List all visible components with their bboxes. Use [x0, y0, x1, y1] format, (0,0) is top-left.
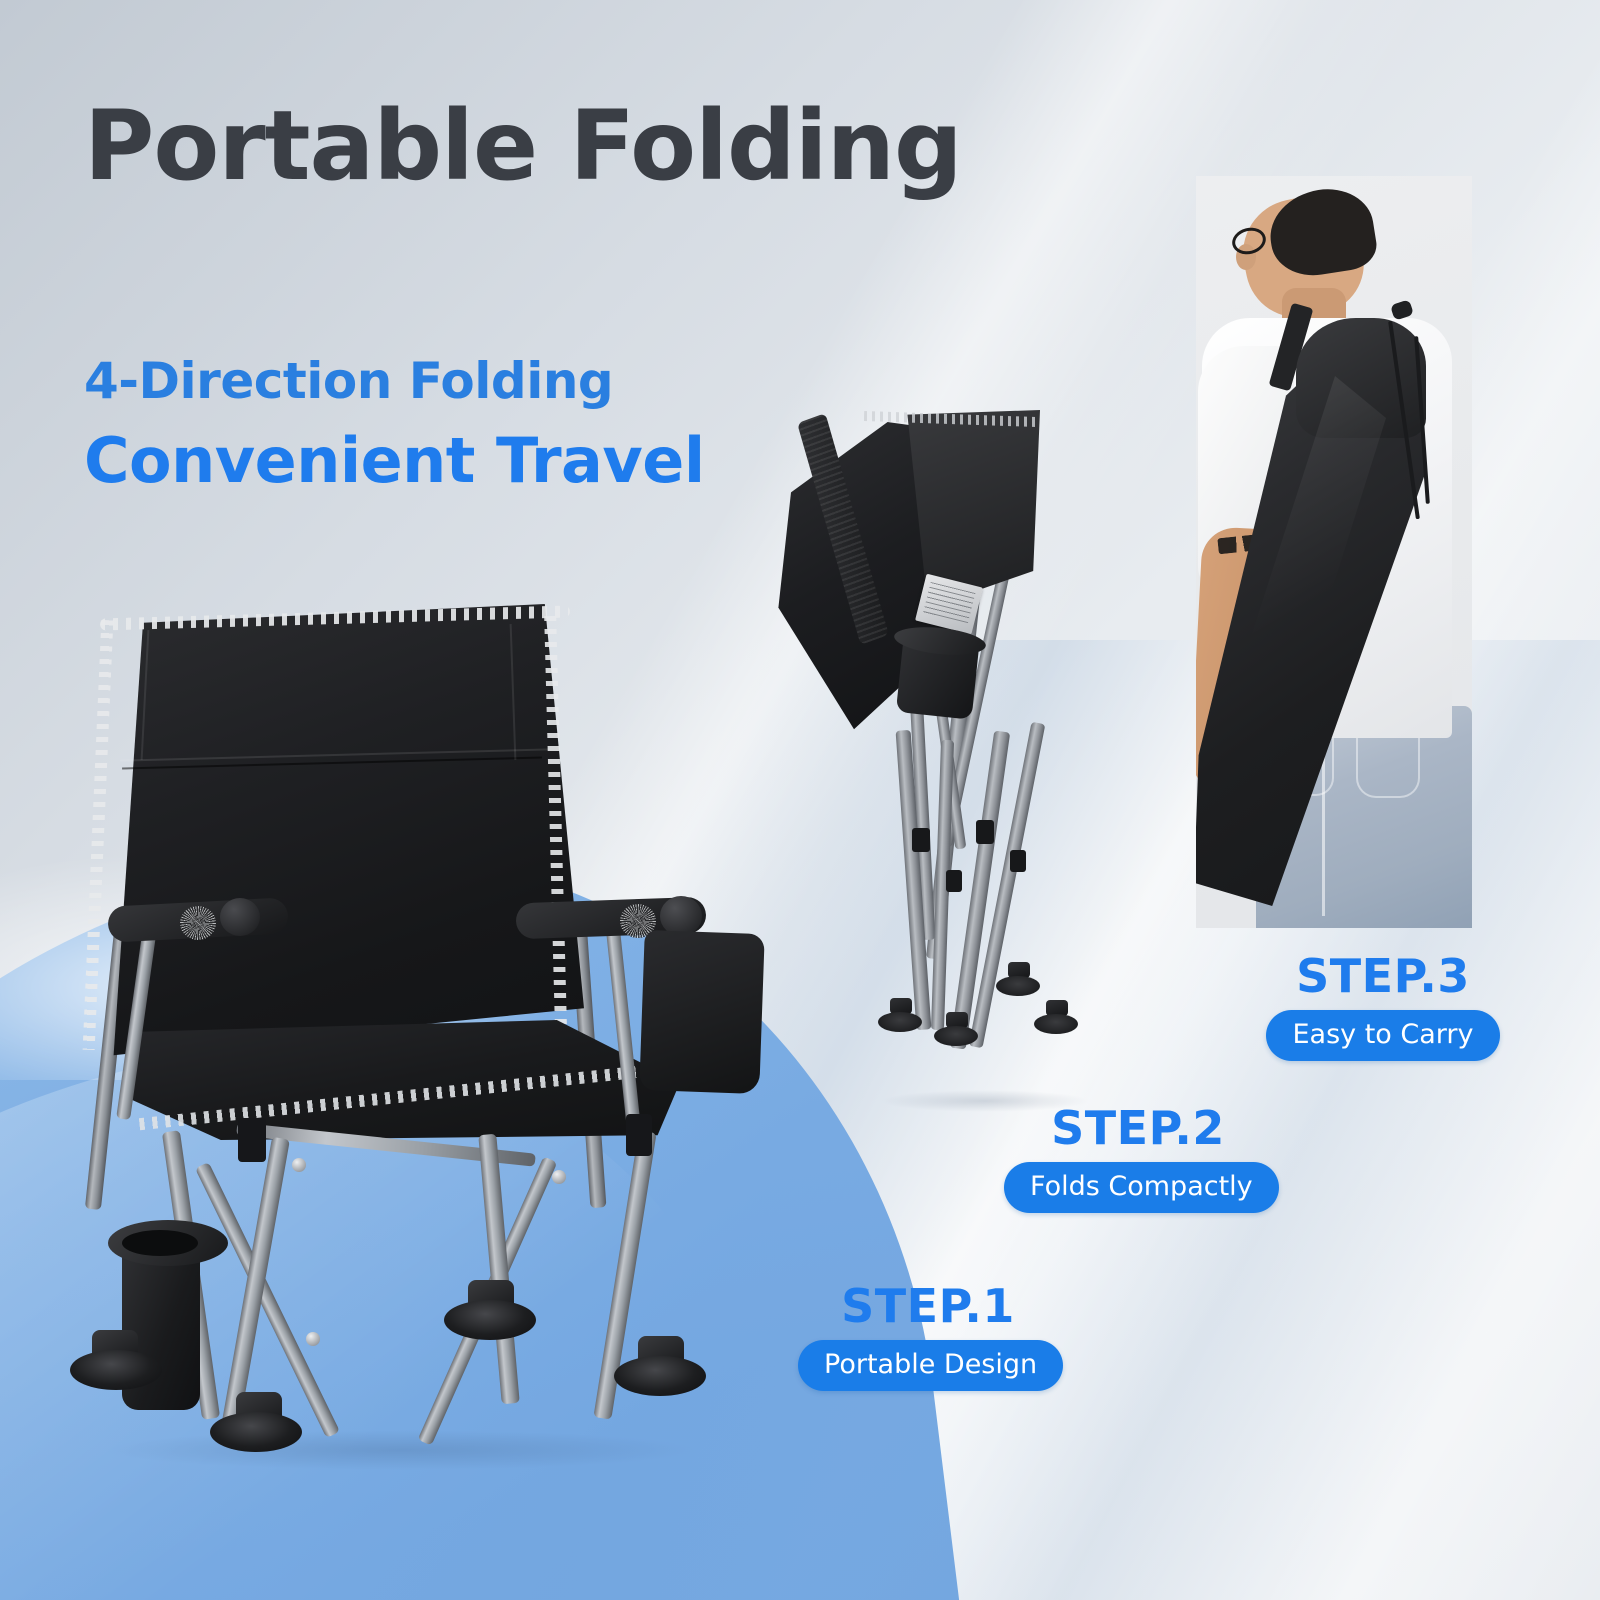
folded-foot-pad-3 — [996, 976, 1040, 996]
side-pocket — [639, 930, 765, 1094]
frame-rivet-b — [552, 1170, 566, 1184]
step-2-title: STEP.2 — [1004, 1104, 1272, 1152]
jeans-pocket-right — [1356, 732, 1420, 798]
frame-rivet-a — [292, 1158, 306, 1172]
foot-pad-rear-right — [614, 1356, 706, 1396]
step-1-title: STEP.1 — [798, 1282, 1058, 1330]
foot-pad-front-left — [70, 1350, 162, 1390]
infographic-canvas: Portable Folding 4-Direction Folding Con… — [0, 0, 1600, 1600]
product-image-unfolded-chair — [60, 590, 760, 1490]
leg-front-right — [478, 1134, 519, 1405]
folded-leg-joint-2 — [976, 820, 994, 844]
product-image-folded-chair — [760, 400, 1120, 1120]
step-block-3: STEP.3 Easy to Carry — [1240, 952, 1526, 1061]
foot-pad-rear-left — [210, 1412, 302, 1452]
foot-pad-front-right — [444, 1300, 536, 1340]
leg-hinge-left — [238, 1118, 266, 1162]
leg-hinge-right — [626, 1114, 652, 1156]
step-2-badge[interactable]: Folds Compactly — [1004, 1162, 1279, 1213]
folded-foot-pad-4 — [1034, 1014, 1078, 1034]
armrest-pivot-gear-left — [180, 906, 216, 940]
step-block-2: STEP.2 Folds Compactly — [1004, 1104, 1272, 1213]
folded-leg-joint-4 — [1010, 850, 1026, 872]
armrest-adjust-knob-left — [220, 898, 260, 936]
page-title: Portable Folding — [84, 96, 962, 197]
lifestyle-photo-person-carrying-bag — [1196, 176, 1472, 928]
frame-rivet-c — [306, 1332, 320, 1346]
folded-leg-joint-3 — [946, 870, 962, 892]
subtitle-line-1: 4-Direction Folding — [84, 352, 613, 410]
step-3-badge[interactable]: Easy to Carry — [1266, 1010, 1499, 1061]
chair-ground-shadow — [100, 1430, 700, 1470]
step-3-title: STEP.3 — [1240, 952, 1526, 1000]
step-1-badge[interactable]: Portable Design — [798, 1340, 1063, 1391]
folded-leg-joint-1 — [912, 828, 930, 852]
cup-holder-opening — [122, 1230, 198, 1256]
folded-foot-pad-1 — [878, 1012, 922, 1032]
step-block-1: STEP.1 Portable Design — [798, 1282, 1058, 1391]
folded-foot-pad-2 — [934, 1026, 978, 1046]
subtitle-line-2: Convenient Travel — [84, 424, 705, 497]
leg-rear-left — [220, 1137, 290, 1436]
